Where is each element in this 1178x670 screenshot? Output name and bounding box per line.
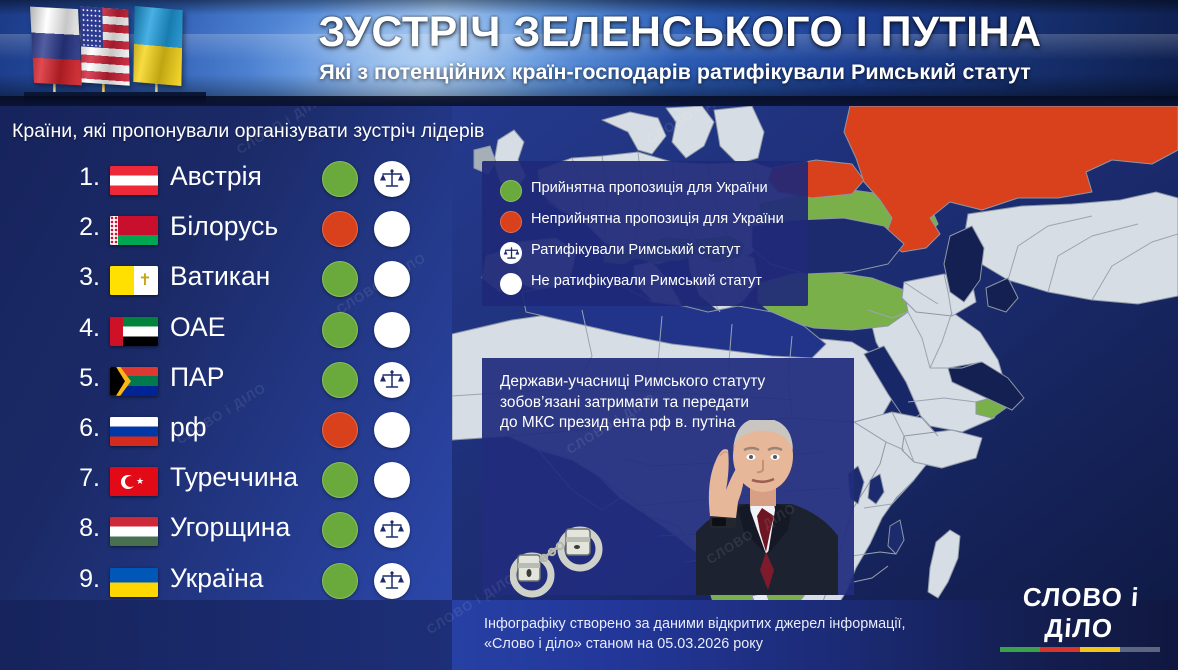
list-item[interactable]: 8. Угорщина bbox=[0, 505, 452, 555]
white-circle-icon bbox=[374, 462, 410, 498]
white-circle-icon bbox=[500, 273, 522, 295]
white-circle-icon bbox=[374, 412, 410, 448]
uae-flag bbox=[110, 317, 158, 346]
country-name: Туреччина bbox=[170, 462, 298, 493]
proposal-status-dot bbox=[322, 563, 358, 599]
country-name: Україна bbox=[170, 563, 263, 594]
belarus-flag bbox=[110, 216, 158, 245]
credit-text: Інфографіку створено за даними відкритих… bbox=[484, 614, 914, 654]
russia-flag bbox=[30, 7, 82, 86]
legend-label: Ратифікували Римський статут bbox=[531, 242, 740, 258]
legend-item: Прийнятна пропозиція для України bbox=[500, 177, 800, 208]
red-circle-icon bbox=[500, 211, 522, 233]
list-item[interactable]: 2. Білорусь bbox=[0, 204, 452, 254]
header-banner: ЗУСТРІЧ ЗЕЛЕНСЬКОГО І ПУТІНА Які з потен… bbox=[0, 0, 1178, 106]
list-item[interactable]: 5. ПАР bbox=[0, 355, 452, 405]
logo-bar-yellow bbox=[1080, 647, 1120, 652]
list-item[interactable]: 9. Україна bbox=[0, 556, 452, 606]
country-name: Угорщина bbox=[170, 512, 290, 543]
white-circle-icon bbox=[374, 312, 410, 348]
white-circle-icon bbox=[374, 211, 410, 247]
proposal-status-dot bbox=[322, 512, 358, 548]
country-name: ПАР bbox=[170, 362, 224, 393]
list-item[interactable]: 7. ★ Туреччина bbox=[0, 455, 452, 505]
list-item[interactable]: 3. ✝ Ватикан bbox=[0, 254, 452, 304]
footer-band-left bbox=[0, 600, 452, 670]
proposal-status-dot bbox=[322, 312, 358, 348]
list-item[interactable]: 1. Австрія bbox=[0, 154, 452, 204]
rank-number: 9. bbox=[46, 565, 100, 594]
usa-flag bbox=[80, 6, 129, 85]
rank-number: 4. bbox=[46, 314, 100, 343]
country-list: 1. Австрія 2. Білорусь 3. ✝ Ватикан bbox=[0, 154, 452, 656]
scales-icon bbox=[374, 563, 410, 599]
infographic-page: ЗУСТРІЧ ЗЕЛЕНСЬКОГО І ПУТІНА Які з потен… bbox=[0, 0, 1178, 670]
vatican-flag: ✝ bbox=[110, 266, 158, 295]
proposal-status-dot bbox=[322, 462, 358, 498]
country-name: Ватикан bbox=[170, 261, 270, 292]
rank-number: 3. bbox=[46, 263, 100, 292]
legend-panel: Прийнятна пропозиція для України Неприйн… bbox=[482, 161, 808, 306]
legend-label: Неприйнятна пропозиція для України bbox=[531, 211, 784, 227]
content-stage: Країни, які пропонували організувати зус… bbox=[0, 106, 1178, 670]
country-name: рф bbox=[170, 412, 207, 443]
handcuffs-icon bbox=[510, 517, 615, 607]
country-name: ОАЕ bbox=[170, 312, 225, 343]
hungary-flag bbox=[110, 517, 158, 546]
proposal-status-dot bbox=[322, 211, 358, 247]
austria-flag bbox=[110, 166, 158, 195]
logo-bar-green bbox=[1000, 647, 1040, 652]
legend-item: Не ратифікували Римський статут bbox=[500, 270, 800, 301]
scales-icon bbox=[374, 512, 410, 548]
proposal-status-dot bbox=[322, 362, 358, 398]
country-name: Австрія bbox=[170, 161, 262, 192]
logo-color-bar bbox=[1000, 647, 1160, 652]
scales-icon bbox=[374, 362, 410, 398]
legend-label: Прийнятна пропозиція для України bbox=[531, 180, 768, 196]
info-panel: Держави-учасниці Римського статуту зобов… bbox=[482, 358, 854, 595]
legend-label: Не ратифікували Римський статут bbox=[531, 273, 762, 289]
list-item[interactable]: 6. рф bbox=[0, 405, 452, 455]
logo-text: СЛОВО і ДіЛО bbox=[998, 582, 1162, 644]
proposal-status-dot bbox=[322, 412, 358, 448]
page-title: ЗУСТРІЧ ЗЕЛЕНСЬКОГО І ПУТІНА bbox=[190, 8, 1170, 57]
rank-number: 7. bbox=[46, 464, 100, 493]
ukraine-flag bbox=[133, 6, 182, 86]
turkey-flag: ★ bbox=[110, 467, 158, 496]
green-circle-icon bbox=[500, 180, 522, 202]
list-item[interactable]: 4. ОАЕ bbox=[0, 305, 452, 355]
russia-flag bbox=[110, 417, 158, 446]
south-africa-flag bbox=[110, 367, 158, 396]
ukraine-flag bbox=[110, 568, 158, 597]
logo-bar-red bbox=[1040, 647, 1080, 652]
legend-item: Неприйнятна пропозиція для України bbox=[500, 208, 800, 239]
page-subtitle: Які з потенційних країн-господарів ратиф… bbox=[180, 60, 1170, 85]
rank-number: 5. bbox=[46, 364, 100, 393]
rank-number: 6. bbox=[46, 414, 100, 443]
slovo-i-dilo-logo[interactable]: СЛОВО і ДіЛО bbox=[1000, 582, 1160, 652]
rank-number: 1. bbox=[46, 163, 100, 192]
rank-number: 8. bbox=[46, 514, 100, 543]
proposal-status-dot bbox=[322, 161, 358, 197]
header-divider bbox=[0, 96, 1178, 106]
proposal-status-dot bbox=[322, 261, 358, 297]
logo-bar-gray bbox=[1120, 647, 1160, 652]
country-name: Білорусь bbox=[170, 211, 278, 242]
desk-flags-photo bbox=[24, 0, 206, 106]
list-caption: Країни, які пропонували організувати зус… bbox=[12, 120, 484, 143]
putin-photo bbox=[662, 420, 862, 595]
scales-icon bbox=[500, 242, 522, 264]
legend-item: Ратифікували Римський статут bbox=[500, 239, 800, 270]
rank-number: 2. bbox=[46, 213, 100, 242]
scales-icon bbox=[374, 161, 410, 197]
white-circle-icon bbox=[374, 261, 410, 297]
